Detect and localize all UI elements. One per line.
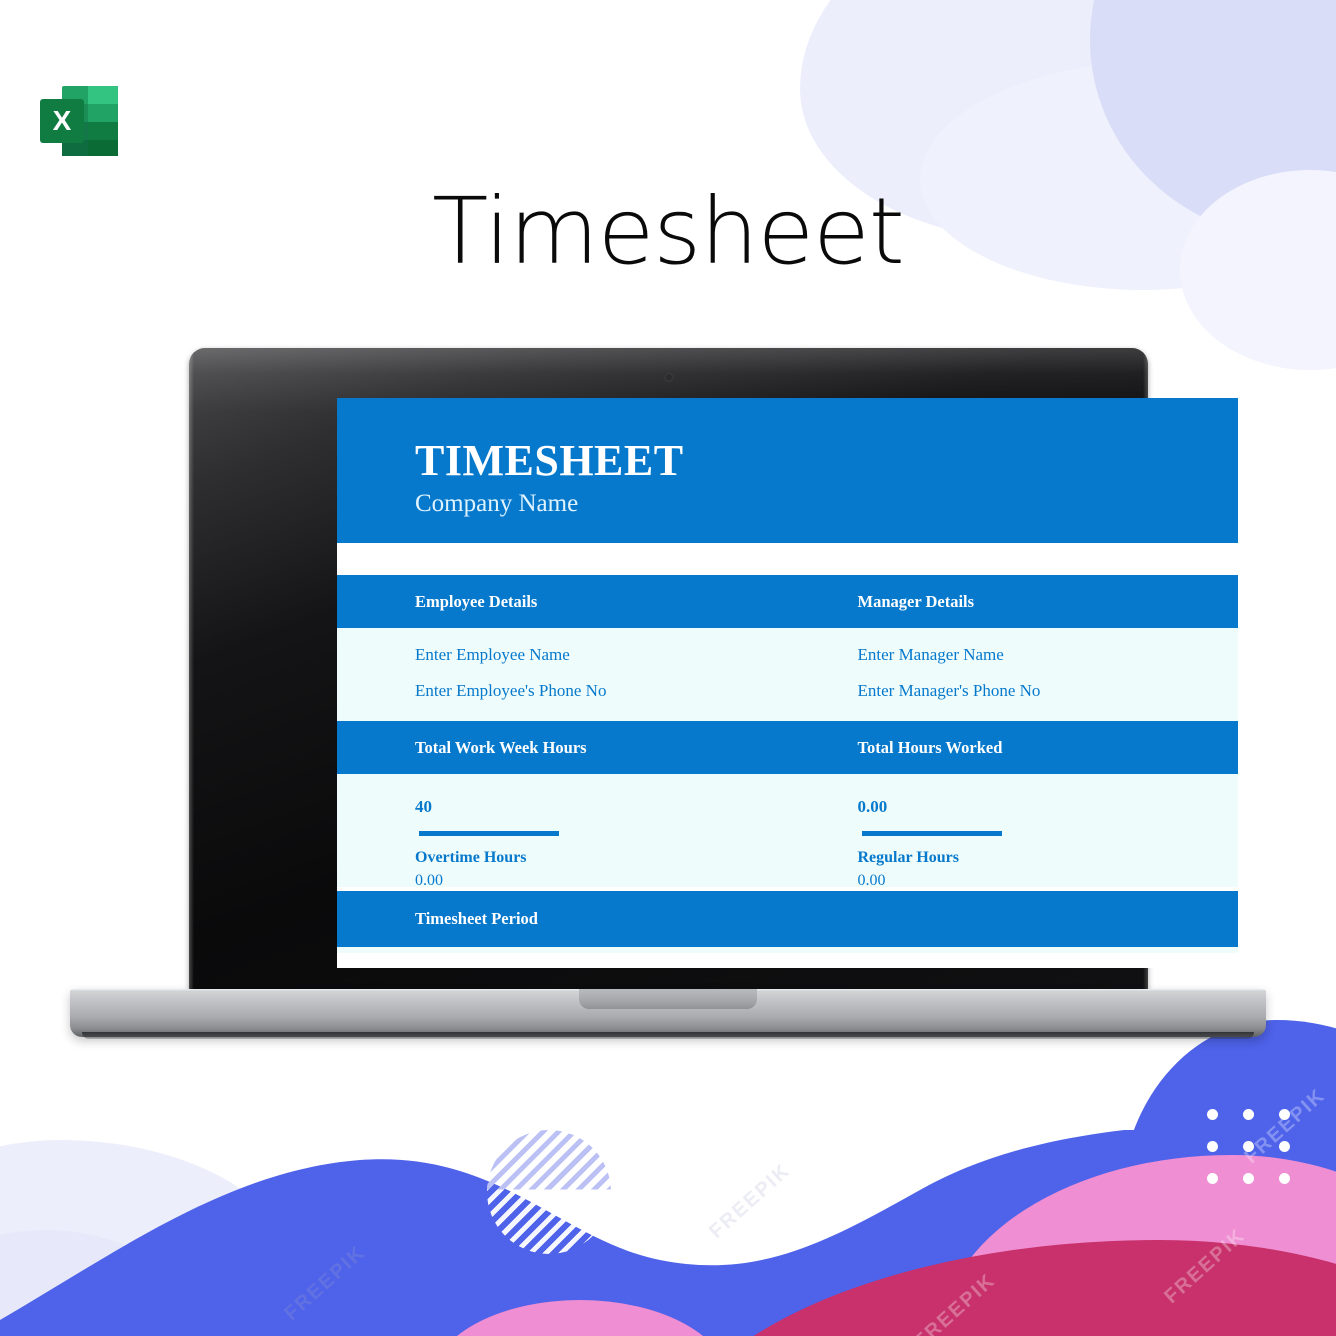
page-title: Timesheet (0, 186, 1336, 278)
regular-hours-label: Regular Hours (858, 849, 1239, 867)
total-hours-worked-value[interactable]: 0.00 (858, 798, 1239, 815)
overtime-hours-label: Overtime Hours (415, 849, 788, 867)
pink-blob-bottom-right (940, 1155, 1336, 1336)
total-work-week-hours-value[interactable]: 40 (415, 798, 788, 815)
dot-grid-decoration (1194, 1098, 1302, 1194)
watermark-text: FREEPIK (1160, 1224, 1250, 1308)
lavender-blob-bottom-left-1 (0, 1140, 300, 1336)
laptop-mockup: TIMESHEET Company Name Employee Details … (70, 348, 1266, 1038)
employee-name-field[interactable]: Enter Employee Name (415, 646, 788, 663)
hours-body-row: 40 Overtime Hours 0.00 0.00 Regular Hour… (337, 774, 1238, 887)
crimson-blob-bottom (660, 1240, 1336, 1336)
watermark-text: FREEPIK (280, 1241, 370, 1325)
sheet-header: TIMESHEET Company Name (337, 398, 1238, 543)
timesheet-period-row: Timesheet Period (337, 891, 1238, 947)
excel-icon: X (36, 80, 124, 162)
sheet-tail (337, 947, 1238, 953)
watermark-text: FREEPIK (910, 1269, 1000, 1336)
sheet-company-name: Company Name (415, 490, 1238, 518)
striped-circle-upper-half (487, 1130, 611, 1254)
laptop-lid: TIMESHEET Company Name Employee Details … (189, 348, 1148, 991)
pink-blob-bottom-small (430, 1300, 730, 1336)
details-body-row: Enter Employee Name Enter Employee's Pho… (337, 628, 1238, 721)
employee-details-cell[interactable]: Enter Employee Name Enter Employee's Pho… (337, 646, 788, 721)
timesheet-document: TIMESHEET Company Name Employee Details … (337, 398, 1238, 968)
total-work-week-hours-underline (419, 831, 559, 836)
lavender-blob-bottom-left-2 (0, 1230, 210, 1336)
sheet-title: TIMESHEET (415, 438, 1238, 484)
base-notch (579, 989, 757, 1009)
total-work-week-hours-cell[interactable]: 40 Overtime Hours 0.00 (337, 798, 788, 887)
blue-wave-bottom (0, 1130, 1336, 1336)
hours-header-row: Total Work Week Hours Total Hours Worked (337, 721, 1238, 774)
manager-details-header: Manager Details (788, 592, 1239, 612)
base-bottom-shadow (82, 1032, 1254, 1039)
svg-text:X: X (53, 105, 72, 136)
employee-details-header: Employee Details (337, 592, 788, 612)
total-hours-worked-underline (862, 831, 1002, 836)
timesheet-period-header: Timesheet Period (337, 909, 788, 929)
employee-phone-field[interactable]: Enter Employee's Phone No (415, 682, 788, 699)
screenshot-canvas: FREEPIK FREEPIK FREEPIK FREEPIK FREEPIK … (0, 0, 1336, 1336)
laptop-base (70, 989, 1266, 1037)
manager-phone-field[interactable]: Enter Manager's Phone No (858, 682, 1239, 699)
sheet-gap (337, 543, 1238, 575)
lid-edge-left (189, 348, 194, 991)
total-hours-worked-cell[interactable]: 0.00 Regular Hours 0.00 (788, 798, 1239, 887)
webcam-icon (664, 373, 673, 382)
watermark-text: FREEPIK (1240, 1084, 1330, 1168)
regular-hours-value[interactable]: 0.00 (858, 872, 1239, 890)
manager-name-field[interactable]: Enter Manager Name (858, 646, 1239, 663)
total-hours-worked-header: Total Hours Worked (788, 738, 1239, 758)
manager-details-cell[interactable]: Enter Manager Name Enter Manager's Phone… (788, 646, 1239, 721)
laptop-screen: TIMESHEET Company Name Employee Details … (337, 398, 1238, 968)
watermark-text: FREEPIK (705, 1159, 795, 1243)
blue-blob-right (1120, 1020, 1336, 1336)
details-header-row: Employee Details Manager Details (337, 575, 1238, 628)
overtime-hours-value[interactable]: 0.00 (415, 872, 788, 890)
striped-circle-decoration (487, 1130, 611, 1254)
total-work-week-hours-header: Total Work Week Hours (337, 738, 788, 758)
